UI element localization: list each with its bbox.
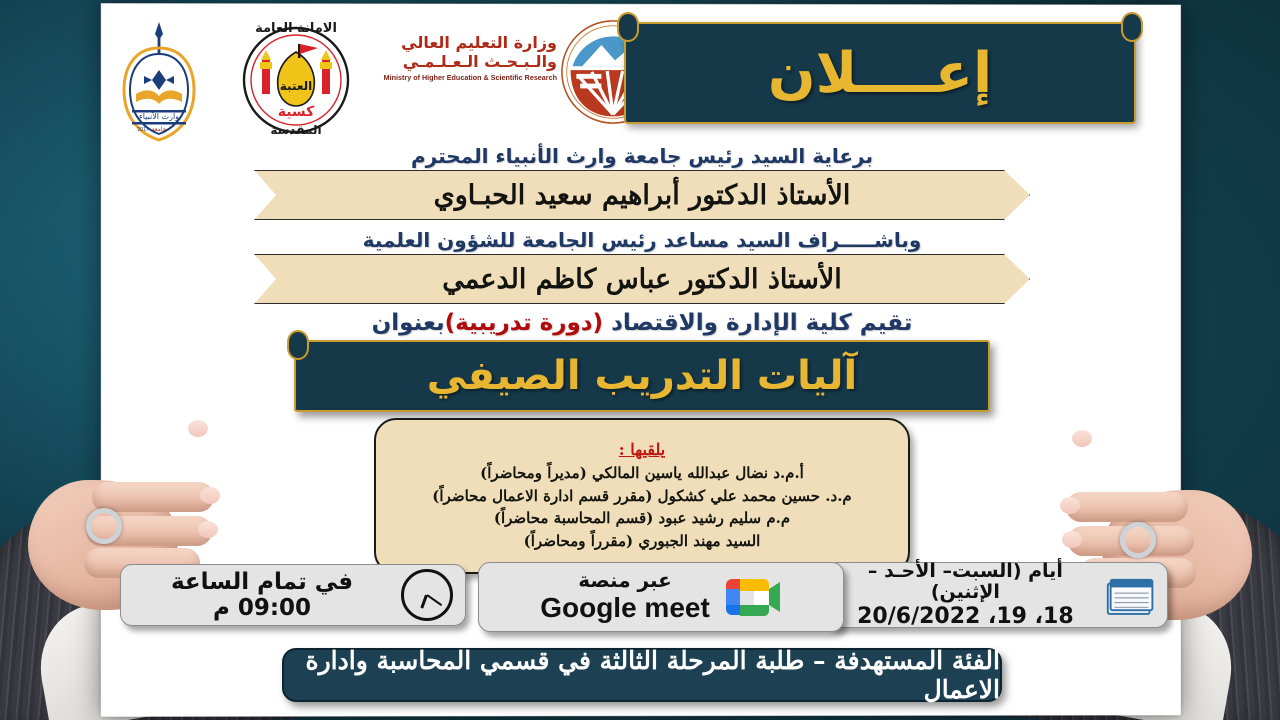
course-title-bar: آليات التدريب الصيفي bbox=[294, 340, 990, 412]
clock-icon bbox=[401, 569, 453, 621]
organizer-line: تقيم كلية الإدارة والاقتصاد (دورة تدريبي… bbox=[102, 310, 1182, 336]
date-line-2: 18، 19، 20/6/2022 bbox=[837, 604, 1094, 629]
ministry-line-2: والـبـحـث الـعـلـمـي bbox=[382, 53, 557, 72]
supervisor-name-box: الأستاذ الدكتور عباس كاظم الدعمي bbox=[254, 254, 1030, 304]
lecturer-item: م.م سليم رشيد عبود (قسم المحاسبة محاضراً… bbox=[494, 507, 790, 530]
svg-text:الامانة العامة: الامانة العامة bbox=[255, 21, 337, 36]
announcement-title: إعــــلان bbox=[768, 41, 992, 106]
platform-chip-text: عبر منصة Google meet bbox=[540, 569, 710, 624]
organizer-prefix: تقيم كلية الإدارة والاقتصاد bbox=[603, 310, 912, 336]
calendar-icon bbox=[1104, 571, 1155, 619]
time-chip: في تمام الساعة 09:00 م bbox=[120, 564, 466, 626]
patron-name: الأستاذ الدكتور أبراهيم سعيد الحبـاوي bbox=[434, 180, 851, 211]
poster-screenshot: وارث الأنبياء جامعة 2017 الامانة العامة … bbox=[0, 0, 1280, 720]
atabah-logo-icon: الامانة العامة المقدسة العتبة كسية bbox=[236, 18, 356, 140]
logo-row: وارث الأنبياء جامعة 2017 الامانة العامة … bbox=[112, 18, 622, 148]
lecturers-card: يلقيها : أ.م.د نضال عبدالله ياسين المالك… bbox=[374, 418, 910, 574]
course-title: آليات التدريب الصيفي bbox=[427, 353, 857, 399]
date-chip: أيام (السبت– الأحـد – الإثنين) 18، 19، 2… bbox=[824, 562, 1168, 628]
scroll-curl-left-icon bbox=[287, 330, 309, 360]
svg-text:العتبة: العتبة bbox=[280, 79, 312, 93]
organizer-suffix: بعنوان bbox=[372, 310, 445, 336]
date-chip-text: أيام (السبت– الأحـد – الإثنين) 18، 19، 2… bbox=[837, 561, 1094, 630]
platform-line-2: Google meet bbox=[540, 592, 710, 624]
svg-text:2017: 2017 bbox=[137, 127, 148, 133]
supervisor-name: الأستاذ الدكتور عباس كاظم الدعمي bbox=[442, 264, 842, 295]
date-line-1: أيام (السبت– الأحـد – الإثنين) bbox=[837, 561, 1094, 605]
patronage-intro: برعاية السيد رئيس جامعة وارث الأنبياء ال… bbox=[102, 144, 1182, 168]
lecturer-item: أ.م.د نضال عبدالله ياسين المالكي (مديراً… bbox=[480, 462, 804, 485]
ministry-line-3: Ministry of Higher Education & Scientifi… bbox=[382, 74, 557, 82]
platform-chip: عبر منصة Google meet bbox=[478, 562, 844, 632]
audience-text: الفئة المستهدفة – طلبة المرحلة الثالثة ف… bbox=[284, 646, 1000, 704]
lecturers-heading: يلقيها : bbox=[619, 440, 665, 459]
supervision-intro: وباشـــــراف السيد مساعد رئيس الجامعة لل… bbox=[102, 228, 1182, 252]
organizer-highlight: (دورة تدريبية) bbox=[445, 310, 603, 336]
svg-text:كسية: كسية bbox=[278, 104, 315, 120]
poster-content: وارث الأنبياء جامعة 2017 الامانة العامة … bbox=[102, 4, 1182, 716]
lecturer-item: م.د. حسين محمد علي كشكول (مقرر قسم ادارة… bbox=[432, 485, 851, 508]
platform-line-1: عبر منصة bbox=[540, 569, 710, 592]
patron-name-box: الأستاذ الدكتور أبراهيم سعيد الحبـاوي bbox=[254, 170, 1030, 220]
ministry-logo-text: وزارة التعليم العالي والـبـحـث الـعـلـمـ… bbox=[382, 34, 557, 82]
svg-text:جامعة: جامعة bbox=[152, 126, 167, 133]
svg-text:المقدسة: المقدسة bbox=[270, 123, 321, 137]
audience-bar: الفئة المستهدفة – طلبة المرحلة الثالثة ف… bbox=[282, 648, 1002, 702]
university-logo-icon: وارث الأنبياء جامعة 2017 bbox=[116, 18, 202, 143]
lecturer-item: السيد مهند الجبوري (مقرراً ومحاضراً) bbox=[524, 530, 761, 553]
scroll-curl-right-icon bbox=[1121, 12, 1143, 42]
google-meet-icon bbox=[720, 573, 782, 621]
scroll-curl-left-icon bbox=[617, 12, 639, 42]
time-chip-text: في تمام الساعة 09:00 م bbox=[133, 569, 391, 622]
svg-text:وارث الأنبياء: وارث الأنبياء bbox=[139, 111, 179, 121]
announcement-banner: إعــــلان bbox=[624, 22, 1136, 124]
ministry-line-1: وزارة التعليم العالي bbox=[382, 34, 557, 53]
